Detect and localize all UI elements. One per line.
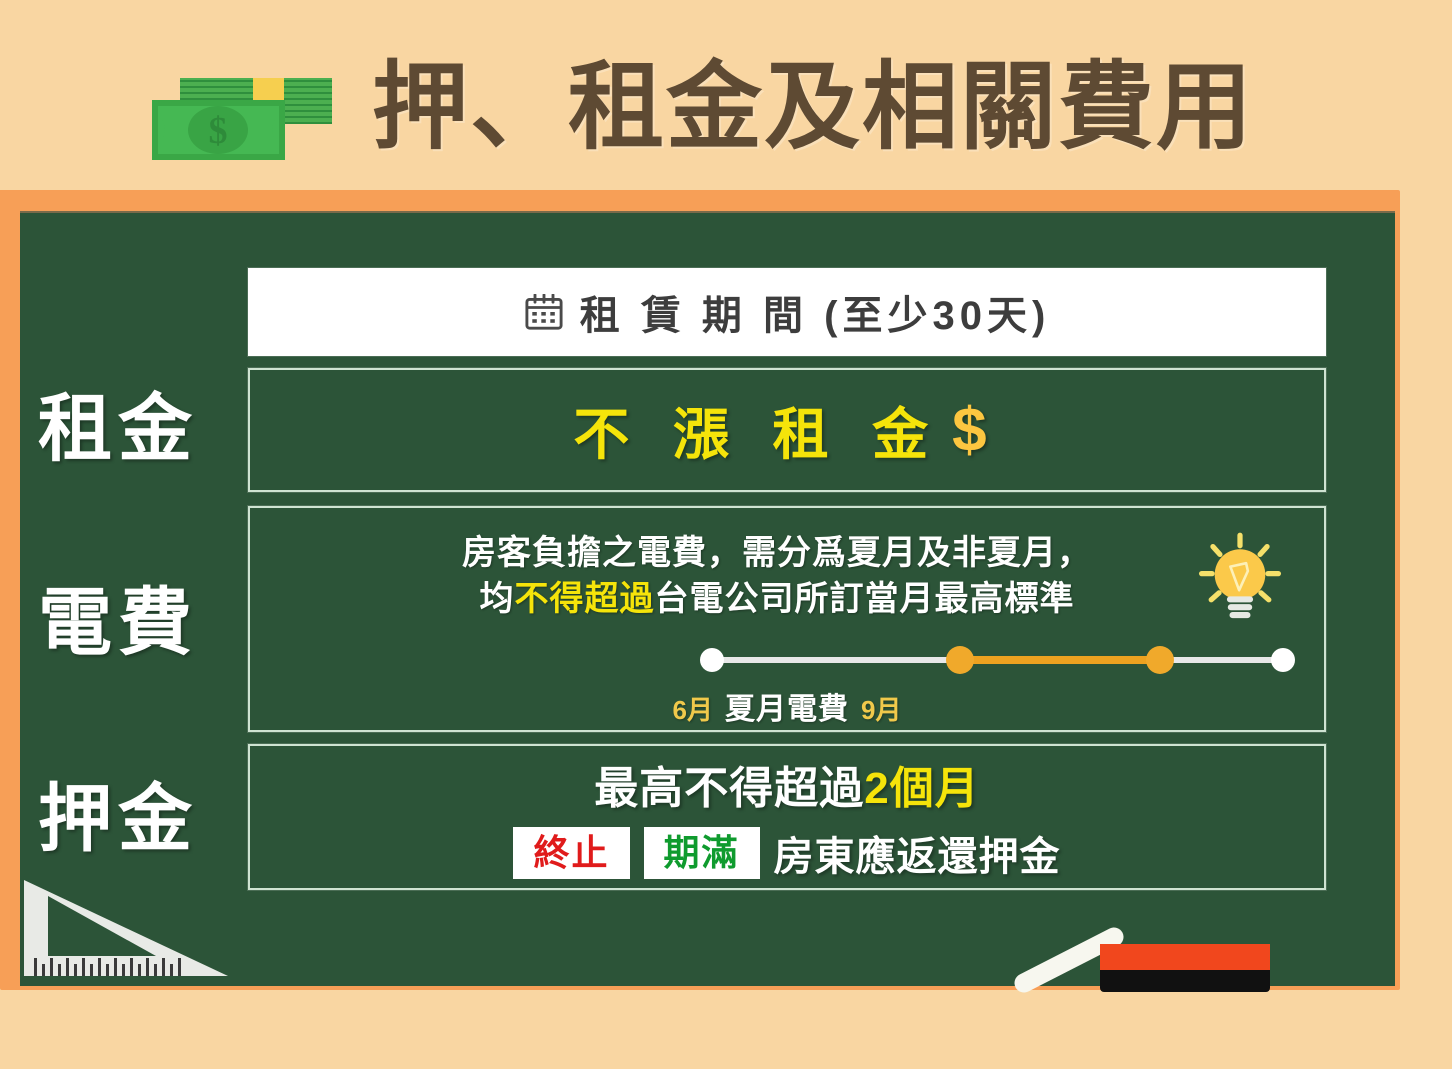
svg-text:$: $ — [209, 110, 228, 152]
electricity-line-1: 房客負擔之電費，需分爲夏月及非夏月， — [290, 530, 1264, 576]
timeline-labels: 6月 夏月電費 9月 — [250, 684, 1324, 728]
timeline-end-month: 9月 — [861, 690, 901, 727]
electricity-description: 房客負擔之電費，需分爲夏月及非夏月， 均不得超過台電公司所訂當月最高標準 — [250, 530, 1324, 622]
deposit-max-prefix: 最高不得超過 — [594, 764, 864, 813]
panel-rental-period: 租 賃 期 間 (至少30天) — [248, 268, 1326, 356]
eraser-icon — [1100, 944, 1270, 996]
rent-content: 不 漲 租 金 $ — [573, 390, 1000, 471]
badge-expire: 期滿 — [644, 827, 760, 879]
timeline-dot-june — [946, 646, 974, 674]
panel-deposit: 最高不得超過2個月 終止 期滿 房東應返還押金 — [248, 744, 1326, 890]
electricity-line-2: 均不得超過台電公司所訂當月最高標準 — [290, 576, 1264, 622]
dollar-icon: $ — [952, 395, 1000, 466]
page-header: $ 押、租金及相關費用 — [0, 0, 1452, 205]
row-label-rent: 租金 — [38, 392, 198, 466]
deposit-return-text: 房東應返還押金 — [774, 824, 1061, 882]
row-label-deposit: 押金 — [38, 782, 198, 856]
calendar-icon — [524, 294, 564, 330]
panel-electricity: 房客負擔之電費，需分爲夏月及非夏月， 均不得超過台電公司所訂當月最高標準 6月 … — [248, 506, 1326, 732]
panel-rent: 不 漲 租 金 $ — [248, 368, 1326, 492]
timeline-summer-segment — [960, 656, 1160, 664]
deposit-max-line: 最高不得超過2個月 — [594, 752, 979, 816]
lightbulb-icon — [1192, 530, 1288, 626]
electricity-line2-suffix: 台電公司所訂當月最高標準 — [655, 580, 1075, 618]
money-stack-icon: $ — [152, 78, 342, 160]
summer-electricity-timeline: 6月 夏月電費 9月 — [250, 636, 1324, 726]
electricity-highlight: 不得超過 — [515, 580, 655, 618]
triangle-ruler-icon — [6, 880, 236, 980]
rental-period-text: 租 賃 期 間 (至少30天) — [580, 283, 1051, 341]
rental-period-content: 租 賃 期 間 (至少30天) — [524, 283, 1051, 341]
timeline-dot-september — [1146, 646, 1174, 674]
timeline-mid-label: 夏月電費 — [725, 684, 849, 728]
timeline-start-month: 6月 — [673, 690, 713, 727]
badge-terminate: 終止 — [513, 827, 629, 879]
row-label-power: 電費 — [38, 586, 198, 660]
deposit-max-highlight: 2個月 — [864, 764, 979, 813]
timeline-dot-end — [1271, 648, 1295, 672]
timeline-dot-start — [700, 648, 724, 672]
deposit-return-line: 終止 期滿 房東應返還押金 — [513, 824, 1060, 882]
rent-text: 不 漲 租 金 — [573, 390, 942, 471]
electricity-line2-prefix: 均 — [480, 580, 515, 618]
page-title: 押、租金及相關費用 — [372, 48, 1254, 168]
